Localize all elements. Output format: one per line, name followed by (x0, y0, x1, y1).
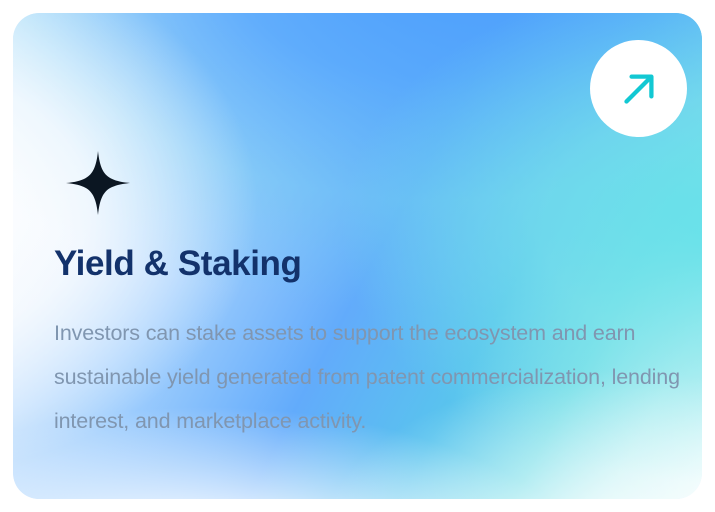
card-title: Yield & Staking (54, 244, 301, 283)
card-description: Investors can stake assets to support th… (54, 311, 694, 443)
feature-card: Yield & Staking Investors can stake asse… (0, 0, 715, 512)
arrow-up-right-icon (613, 63, 665, 115)
open-link-button[interactable] (590, 40, 687, 137)
card-content: Yield & Staking Investors can stake asse… (13, 13, 702, 499)
card-gradient-surface: Yield & Staking Investors can stake asse… (13, 13, 702, 499)
sparkle-icon (66, 151, 130, 215)
